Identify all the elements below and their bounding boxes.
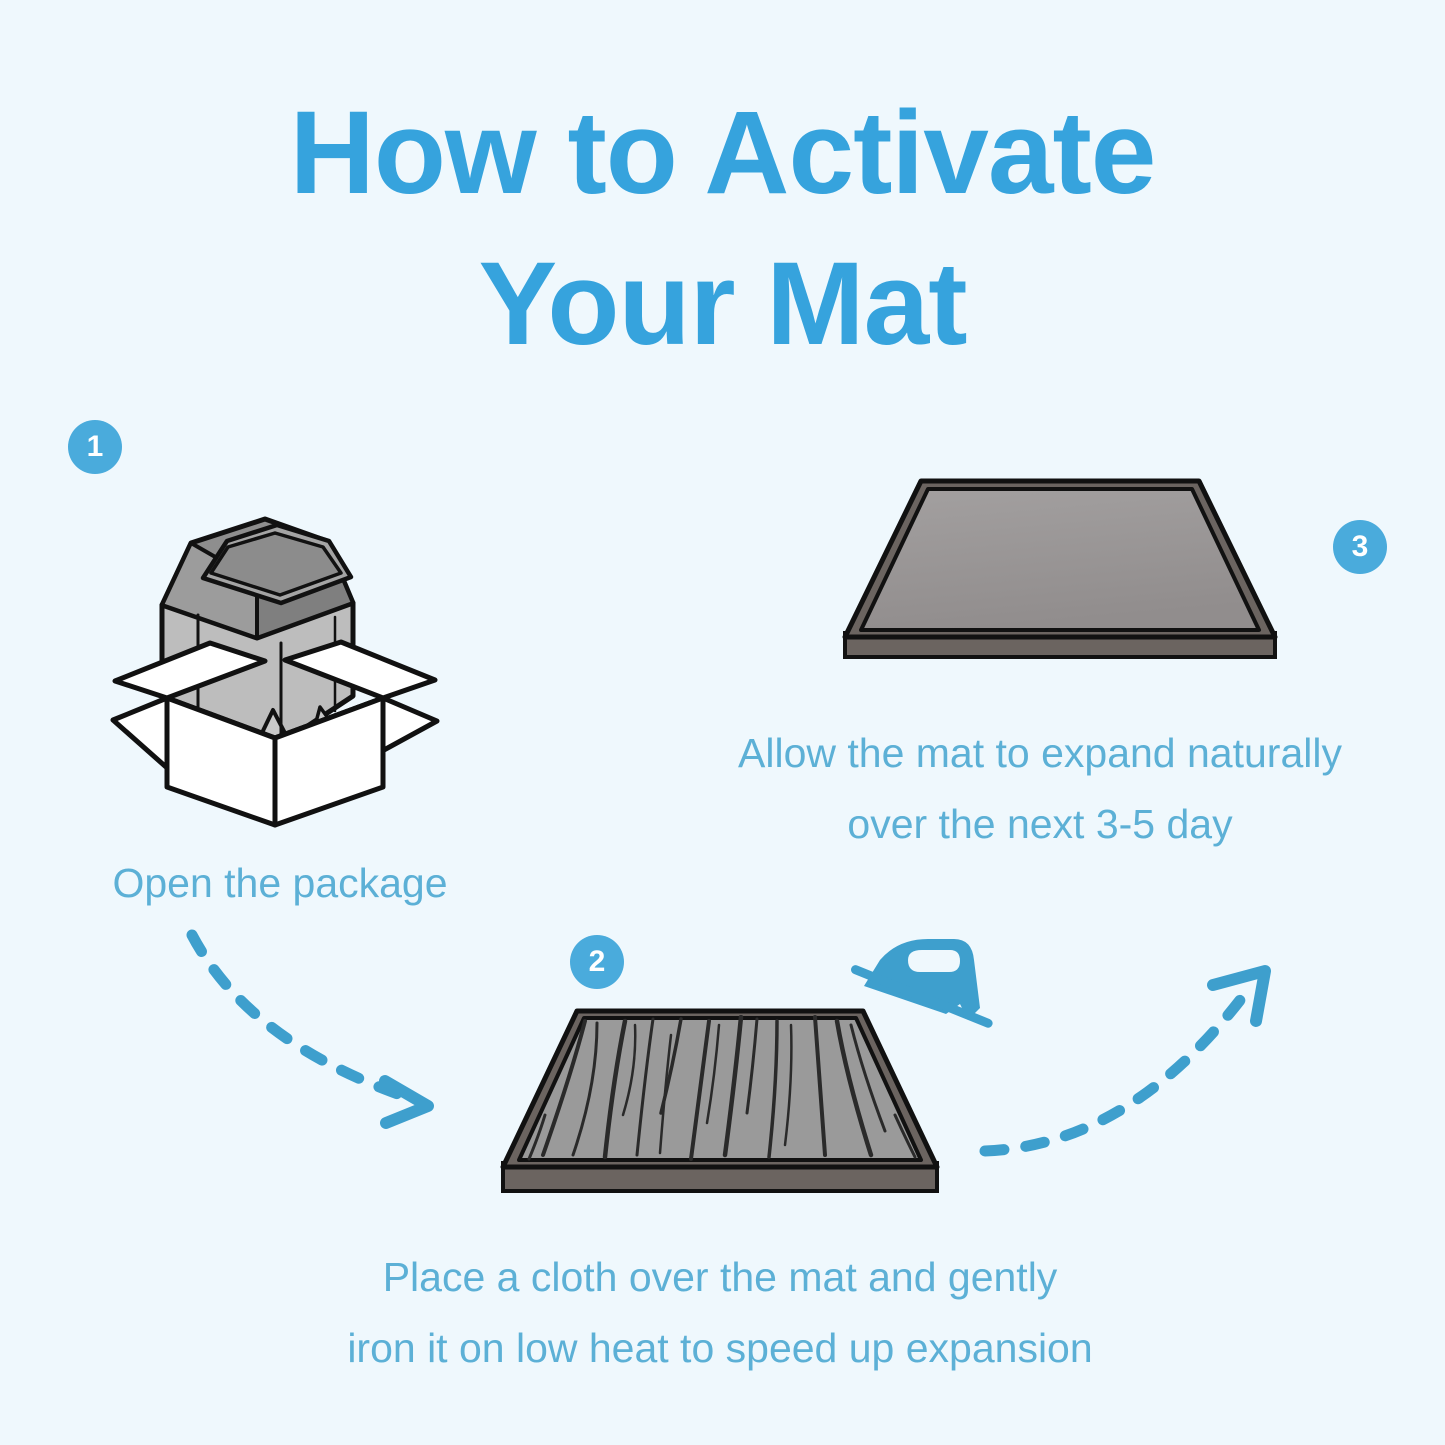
step-2-caption-line-1: Place a cloth over the mat and gently [240, 1242, 1200, 1313]
how-to-activate-mat-infographic: How to Activate Your Mat 1 [0, 0, 1445, 1445]
page-title-line-1: How to Activate [0, 78, 1445, 229]
open-box-icon [105, 485, 445, 830]
page-title: How to Activate Your Mat [0, 78, 1445, 380]
step-badge-3: 3 [1333, 520, 1387, 574]
step-1-caption-line-1: Open the package [30, 848, 530, 919]
step-2-caption: Place a cloth over the mat and gently ir… [240, 1242, 1200, 1383]
arrow-step2-to-step3 [975, 955, 1285, 1165]
step-3-caption: Allow the mat to expand naturally over t… [660, 718, 1420, 859]
step-1-caption: Open the package [30, 848, 530, 919]
step-3-caption-line-1: Allow the mat to expand naturally [660, 718, 1420, 789]
page-title-line-2: Your Mat [0, 229, 1445, 380]
flat-mat-icon [825, 465, 1295, 680]
arrow-step1-to-step2 [180, 925, 480, 1130]
step-3-caption-line-2: over the next 3-5 day [660, 789, 1420, 860]
step-badge-1: 1 [68, 420, 122, 474]
step-2-caption-line-2: iron it on low heat to speed up expansio… [240, 1313, 1200, 1384]
step-badge-2: 2 [570, 935, 624, 989]
wrinkled-mat-icon [485, 995, 955, 1220]
